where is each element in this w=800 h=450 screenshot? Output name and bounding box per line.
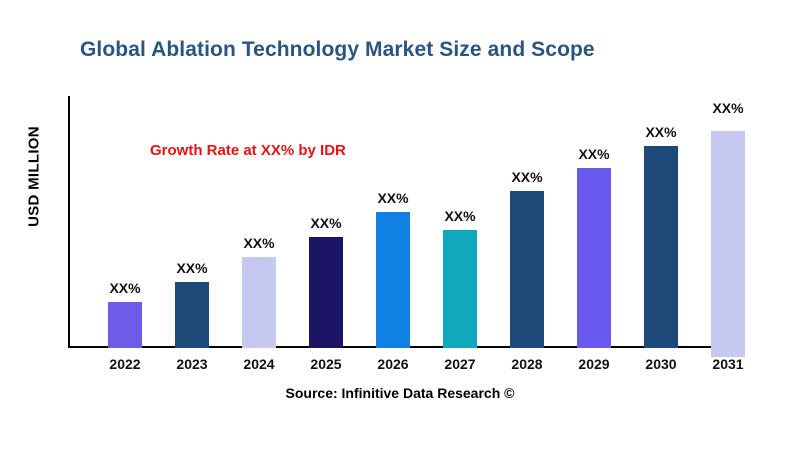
x-axis-tick-label: 2023: [176, 356, 207, 372]
bar[interactable]: [175, 282, 209, 348]
bar-group: XX%2024: [242, 96, 276, 348]
x-axis-tick-label: 2027: [444, 356, 475, 372]
x-axis-tick-label: 2031: [712, 356, 743, 372]
x-axis-tick-label: 2022: [109, 356, 140, 372]
bar-value-label: XX%: [377, 190, 408, 206]
bar[interactable]: [577, 168, 611, 348]
bar-group: XX%2030: [644, 96, 678, 348]
chart-page: Global Ablation Technology Market Size a…: [0, 0, 800, 450]
y-axis-line: [68, 96, 70, 348]
bar-value-label: XX%: [712, 100, 743, 116]
bar-group: XX%2027: [443, 96, 477, 348]
plot-area: XX%2022XX%2023XX%2024XX%2025XX%2026XX%20…: [68, 96, 736, 348]
x-axis-tick-label: 2024: [243, 356, 274, 372]
bar[interactable]: [510, 191, 544, 348]
source-note: Source: Infinitive Data Research ©: [0, 385, 800, 401]
bar-group: XX%2031: [711, 96, 745, 348]
bar-value-label: XX%: [310, 215, 341, 231]
x-axis-tick-label: 2030: [645, 356, 676, 372]
bar-group: XX%2029: [577, 96, 611, 348]
y-axis-label: USD MILLION: [26, 107, 43, 247]
bar-value-label: XX%: [176, 260, 207, 276]
bar-value-label: XX%: [444, 208, 475, 224]
bar-value-label: XX%: [645, 124, 676, 140]
bar[interactable]: [644, 146, 678, 348]
bar[interactable]: [376, 212, 410, 348]
bar[interactable]: [108, 302, 142, 348]
x-axis-tick-label: 2028: [511, 356, 542, 372]
bar-group: XX%2025: [309, 96, 343, 348]
bar-group: XX%2022: [108, 96, 142, 348]
bar-value-label: XX%: [511, 169, 542, 185]
bar-group: XX%2026: [376, 96, 410, 348]
bar-group: XX%2023: [175, 96, 209, 348]
bar[interactable]: [443, 230, 477, 348]
bar[interactable]: [711, 131, 745, 357]
page-title: Global Ablation Technology Market Size a…: [80, 38, 595, 62]
bar[interactable]: [309, 237, 343, 348]
x-axis-tick-label: 2029: [578, 356, 609, 372]
bar-value-label: XX%: [578, 146, 609, 162]
bar-value-label: XX%: [243, 235, 274, 251]
bar[interactable]: [242, 257, 276, 348]
bar-value-label: XX%: [109, 280, 140, 296]
x-axis-tick-label: 2026: [377, 356, 408, 372]
bar-group: XX%2028: [510, 96, 544, 348]
x-axis-tick-label: 2025: [310, 356, 341, 372]
